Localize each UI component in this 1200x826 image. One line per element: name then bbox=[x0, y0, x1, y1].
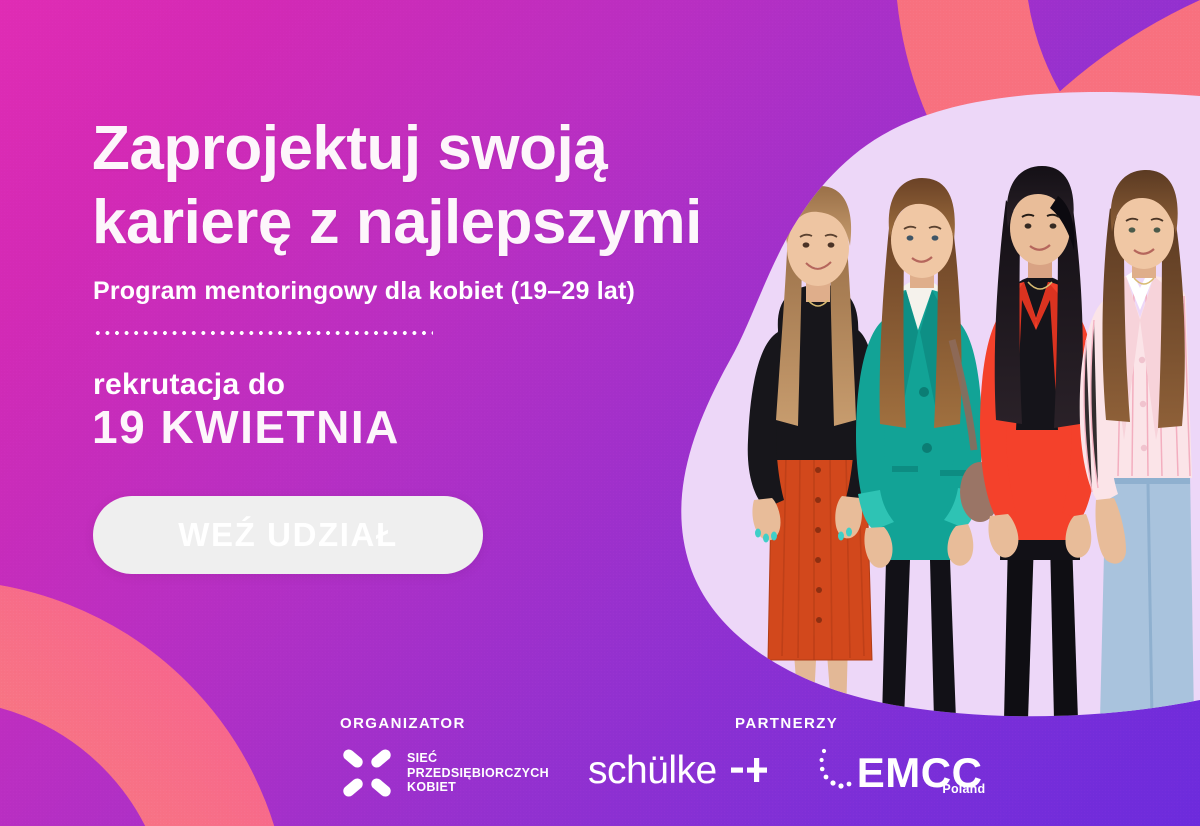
emcc-dots-arc-icon bbox=[819, 746, 853, 794]
partnerzy-block: PARTNERZY schülke bbox=[588, 715, 985, 794]
partnerzy-label: PARTNERZY bbox=[735, 715, 838, 732]
schulke-wordmark: schülke bbox=[588, 751, 717, 790]
deadline-label: rekrutacja do bbox=[93, 368, 285, 402]
footer: ORGANIZATOR SIEĆ PRZEDSIĘBIORCZYCH KOBIE… bbox=[0, 715, 1200, 800]
organizator-label: ORGANIZATOR bbox=[340, 715, 466, 732]
dotted-divider bbox=[93, 330, 433, 336]
spk-logo[interactable]: SIEĆ PRZEDSIĘBIORCZYCH KOBIET bbox=[340, 746, 549, 800]
emcc-subtitle: Poland bbox=[942, 782, 985, 796]
emcc-logo[interactable]: EMCC Poland bbox=[819, 746, 986, 794]
organizator-block: ORGANIZATOR SIEĆ PRZEDSIĘBIORCZYCH KOBIE… bbox=[340, 715, 588, 800]
headline: Zaprojektuj swoją karierę z najlepszymi bbox=[92, 112, 752, 260]
deadline-date: 19 KWIETNIA bbox=[92, 400, 400, 454]
schulke-logo[interactable]: schülke bbox=[588, 751, 767, 790]
partner-logos-row: schülke bbox=[588, 746, 985, 794]
subheadline: Program mentoringowy dla kobiet (19–29 l… bbox=[93, 277, 635, 306]
promo-banner: Zaprojektuj swoją karierę z najlepszymi … bbox=[0, 0, 1200, 826]
spk-logo-text: SIEĆ PRZEDSIĘBIORCZYCH KOBIET bbox=[407, 751, 549, 795]
content-column: Zaprojektuj swoją karierę z najlepszymi … bbox=[92, 0, 752, 826]
take-part-button[interactable]: WEŹ UDZIAŁ bbox=[93, 496, 483, 574]
schulke-cross-icon bbox=[731, 755, 767, 785]
spk-x-icon bbox=[340, 746, 394, 800]
